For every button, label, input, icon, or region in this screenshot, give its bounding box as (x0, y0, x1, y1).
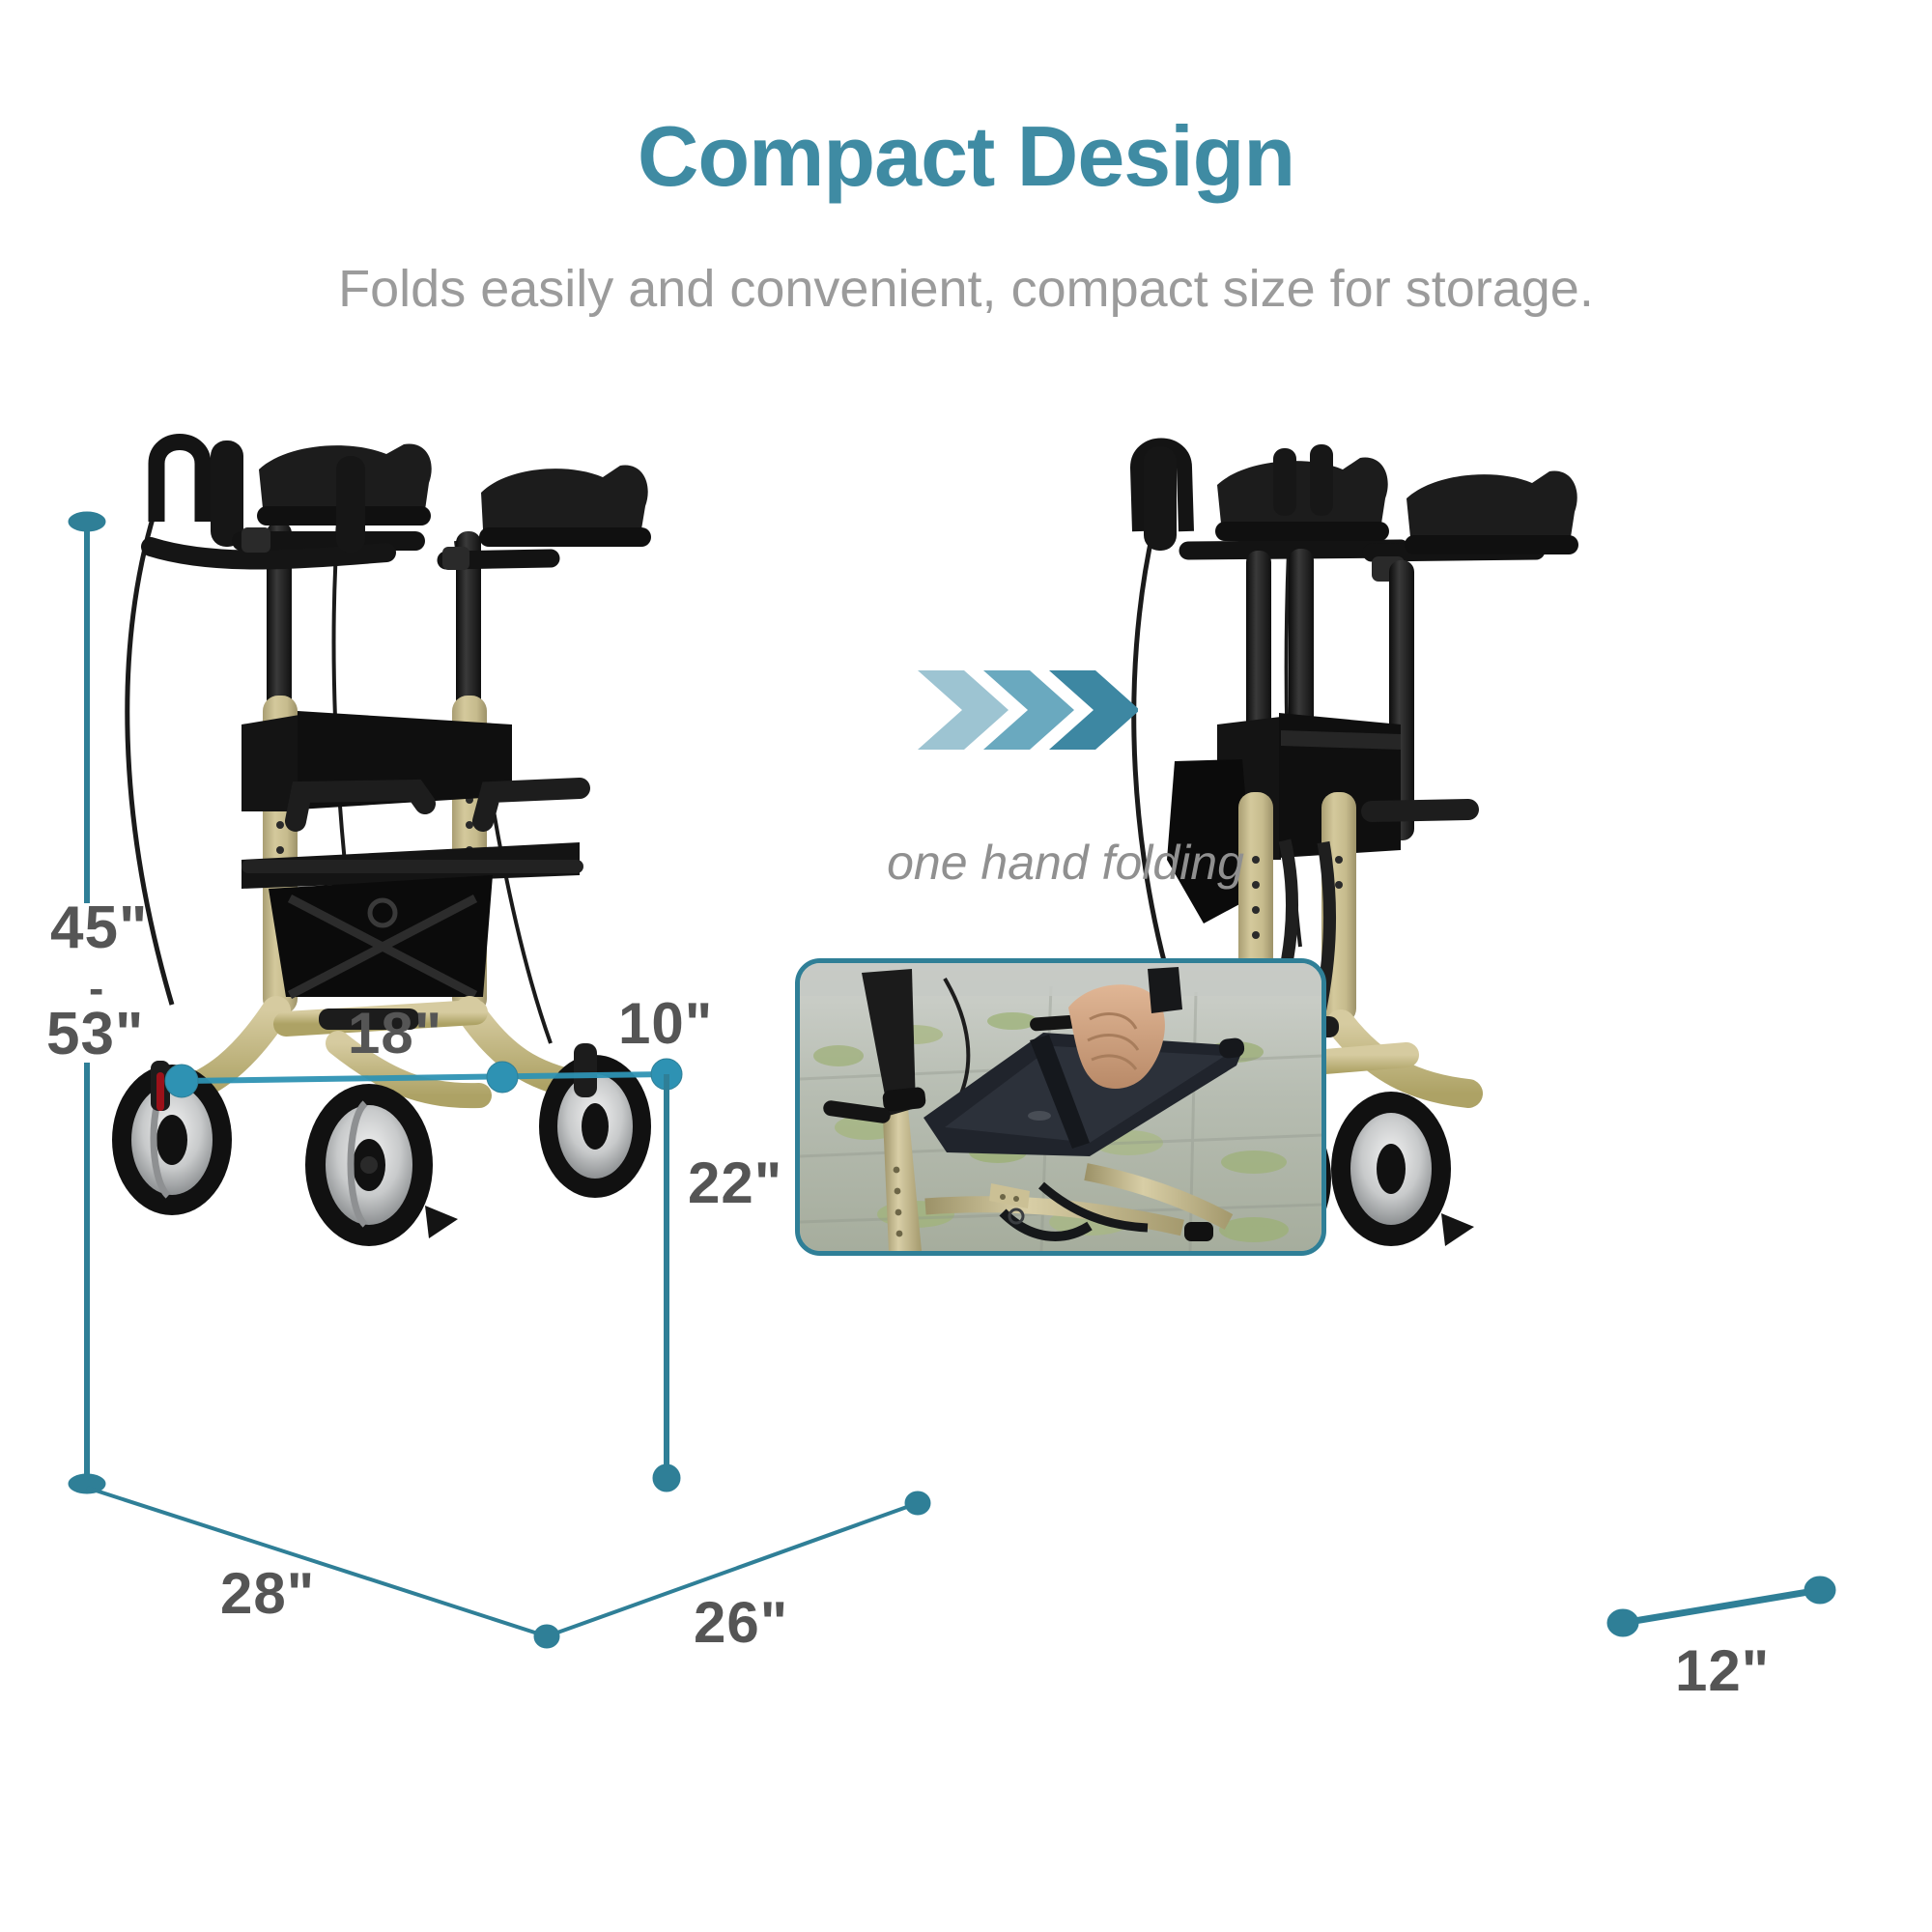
dimension-label-base-right: 26" (694, 1594, 788, 1652)
dimension-label-depth-top: 10" (618, 995, 713, 1053)
dimension-label-height-min: 53" (46, 1005, 144, 1065)
dimension-label-seat-height: 22" (688, 1154, 782, 1212)
one-hand-folding-caption: one hand folding (814, 838, 1317, 887)
dimension-label-seat-width: 18" (348, 1005, 442, 1063)
chevron-right-icon (916, 667, 1138, 753)
one-hand-folding-photo (795, 958, 1326, 1256)
dimension-label-height-max: 45" (50, 898, 148, 958)
page-subtitle: Folds easily and convenient, compact siz… (0, 263, 1932, 315)
page-title: Compact Design (0, 114, 1932, 199)
rollator-open-illustration (97, 406, 773, 1256)
dimension-label-folded-width: 12" (1675, 1642, 1770, 1700)
dimension-label-base-left: 28" (220, 1565, 315, 1623)
infographic-canvas: Compact Design Folds easily and convenie… (0, 0, 1932, 1932)
